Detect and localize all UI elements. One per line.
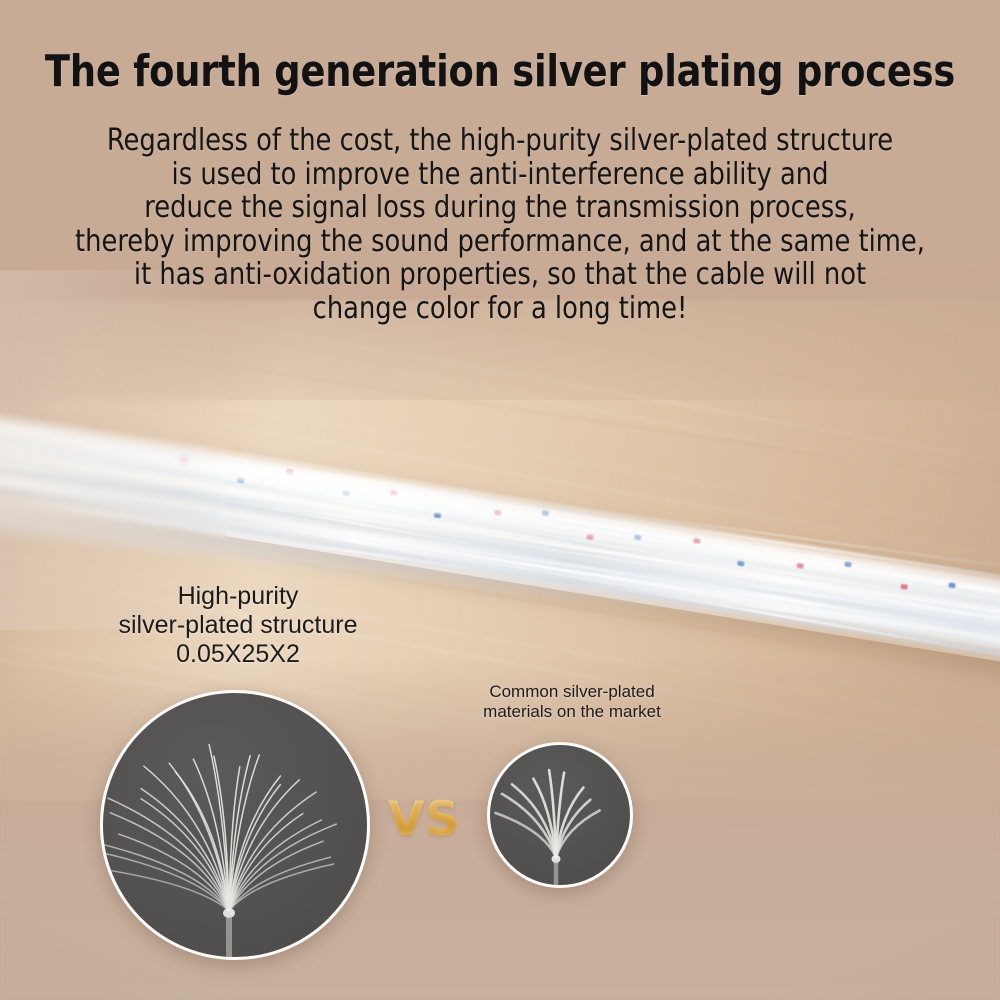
caption-line: Common silver-plated — [452, 682, 692, 702]
paragraph-line: Regardless of the cost, the high-purity … — [70, 124, 930, 158]
caption-line: silver-plated structure — [88, 611, 388, 640]
right-sample-caption: Common silver-plated materials on the ma… — [452, 682, 692, 722]
paragraph-line: thereby improving the sound performance,… — [70, 225, 930, 259]
paragraph-line: reduce the signal loss during the transm… — [70, 191, 930, 225]
common-material-strand-fan — [490, 745, 630, 885]
high-purity-strand-fan — [103, 693, 367, 957]
caption-line: High-purity — [88, 582, 388, 611]
paragraph-line: change color for a long time! — [70, 292, 930, 326]
left-sample-caption: High-purity silver-plated structure 0.05… — [88, 582, 388, 669]
right-sample-circle — [487, 742, 633, 888]
description-paragraph: Regardless of the cost, the high-purity … — [70, 124, 930, 325]
paragraph-line: is used to improve the anti-interference… — [70, 158, 930, 192]
infographic-canvas: The fourth generation silver plating pro… — [0, 0, 1000, 1000]
left-sample-circle — [100, 690, 370, 960]
vs-badge: VS — [378, 792, 470, 847]
caption-line: 0.05X25X2 — [88, 640, 388, 669]
caption-line: materials on the market — [452, 702, 692, 722]
page-title: The fourth generation silver plating pro… — [35, 46, 965, 97]
paragraph-line: it has anti-oxidation properties, so tha… — [70, 258, 930, 292]
